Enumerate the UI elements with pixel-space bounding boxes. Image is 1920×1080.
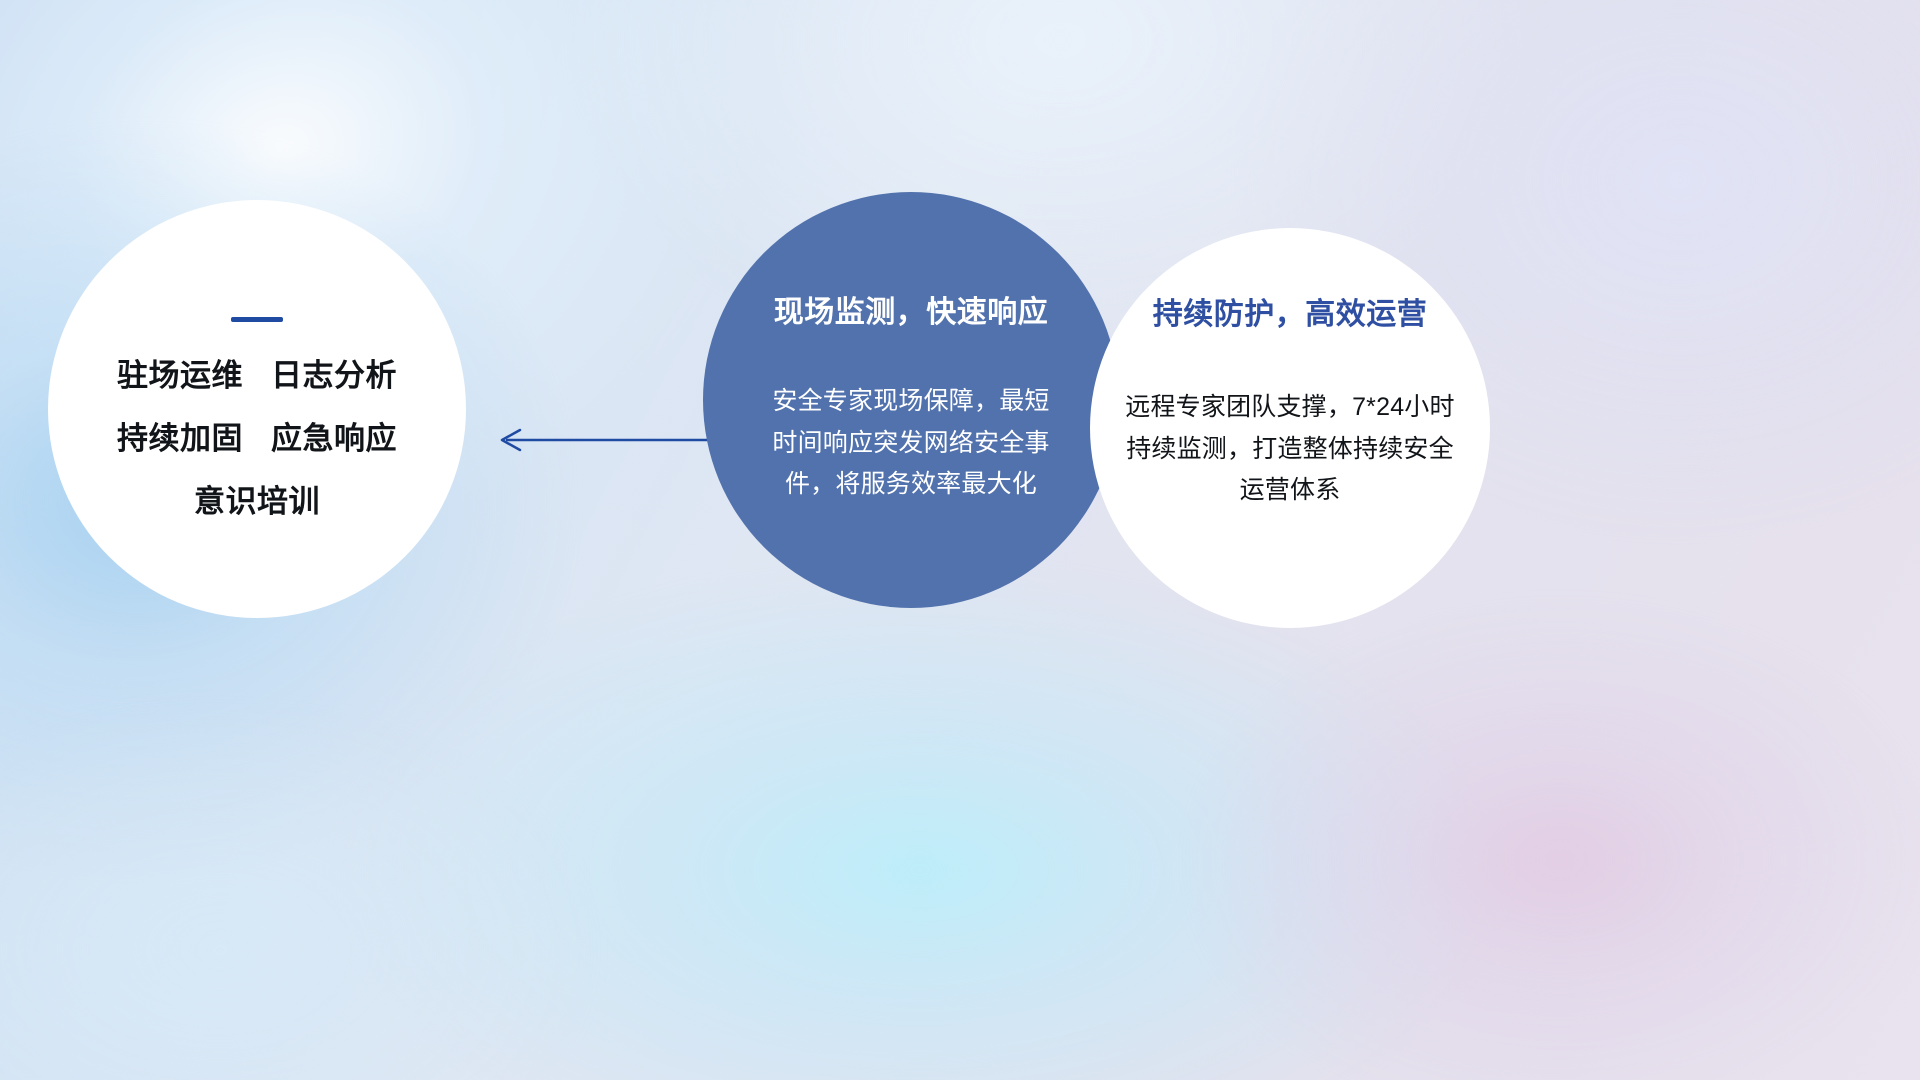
background-glow-bottom-left [0,700,600,1080]
circle-right-title: 持续防护，高效运营 [1153,298,1428,331]
background-glow-bottom-right [1180,600,1920,1080]
keyword-chixujiagu: 持续加固 [117,421,243,456]
keyword-row-2: 持续加固应急响应 [48,423,466,454]
divider-dash-icon [231,317,283,322]
keyword-row-1: 驻场运维日志分析 [48,360,466,391]
left-arrow-icon [480,418,740,462]
keyword-yishipeixun: 意识培训 [194,484,320,519]
slide-canvas: 驻场运维日志分析 持续加固应急响应 意识培训 现场监测，快速响应 安全专家现场保… [0,0,1920,1080]
circle-middle-body: 安全专家现场保障，最短时间响应突发网络安全事件，将服务效率最大化 [761,381,1061,506]
left-arrow-connector [480,418,740,462]
capability-circle-middle[interactable]: 现场监测，快速响应 安全专家现场保障，最短时间响应突发网络安全事件，将服务效率最… [703,192,1119,608]
keyword-row-3: 意识培训 [48,486,466,517]
keyword-list: 驻场运维日志分析 持续加固应急响应 意识培训 [48,360,466,517]
circle-middle-title: 现场监测，快速响应 [774,296,1049,329]
keyword-yingjixiangying: 应急响应 [271,421,397,456]
capability-circle-left[interactable]: 驻场运维日志分析 持续加固应急响应 意识培训 [48,200,466,618]
keyword-rizhifenxi: 日志分析 [271,358,397,393]
capability-circle-right[interactable]: 持续防护，高效运营 远程专家团队支撑，7*24小时持续监测，打造整体持续安全运营… [1090,228,1490,628]
keyword-zhuchangyunwei: 驻场运维 [117,358,243,393]
circle-right-body: 远程专家团队支撑，7*24小时持续监测，打造整体持续安全运营体系 [1116,387,1464,512]
